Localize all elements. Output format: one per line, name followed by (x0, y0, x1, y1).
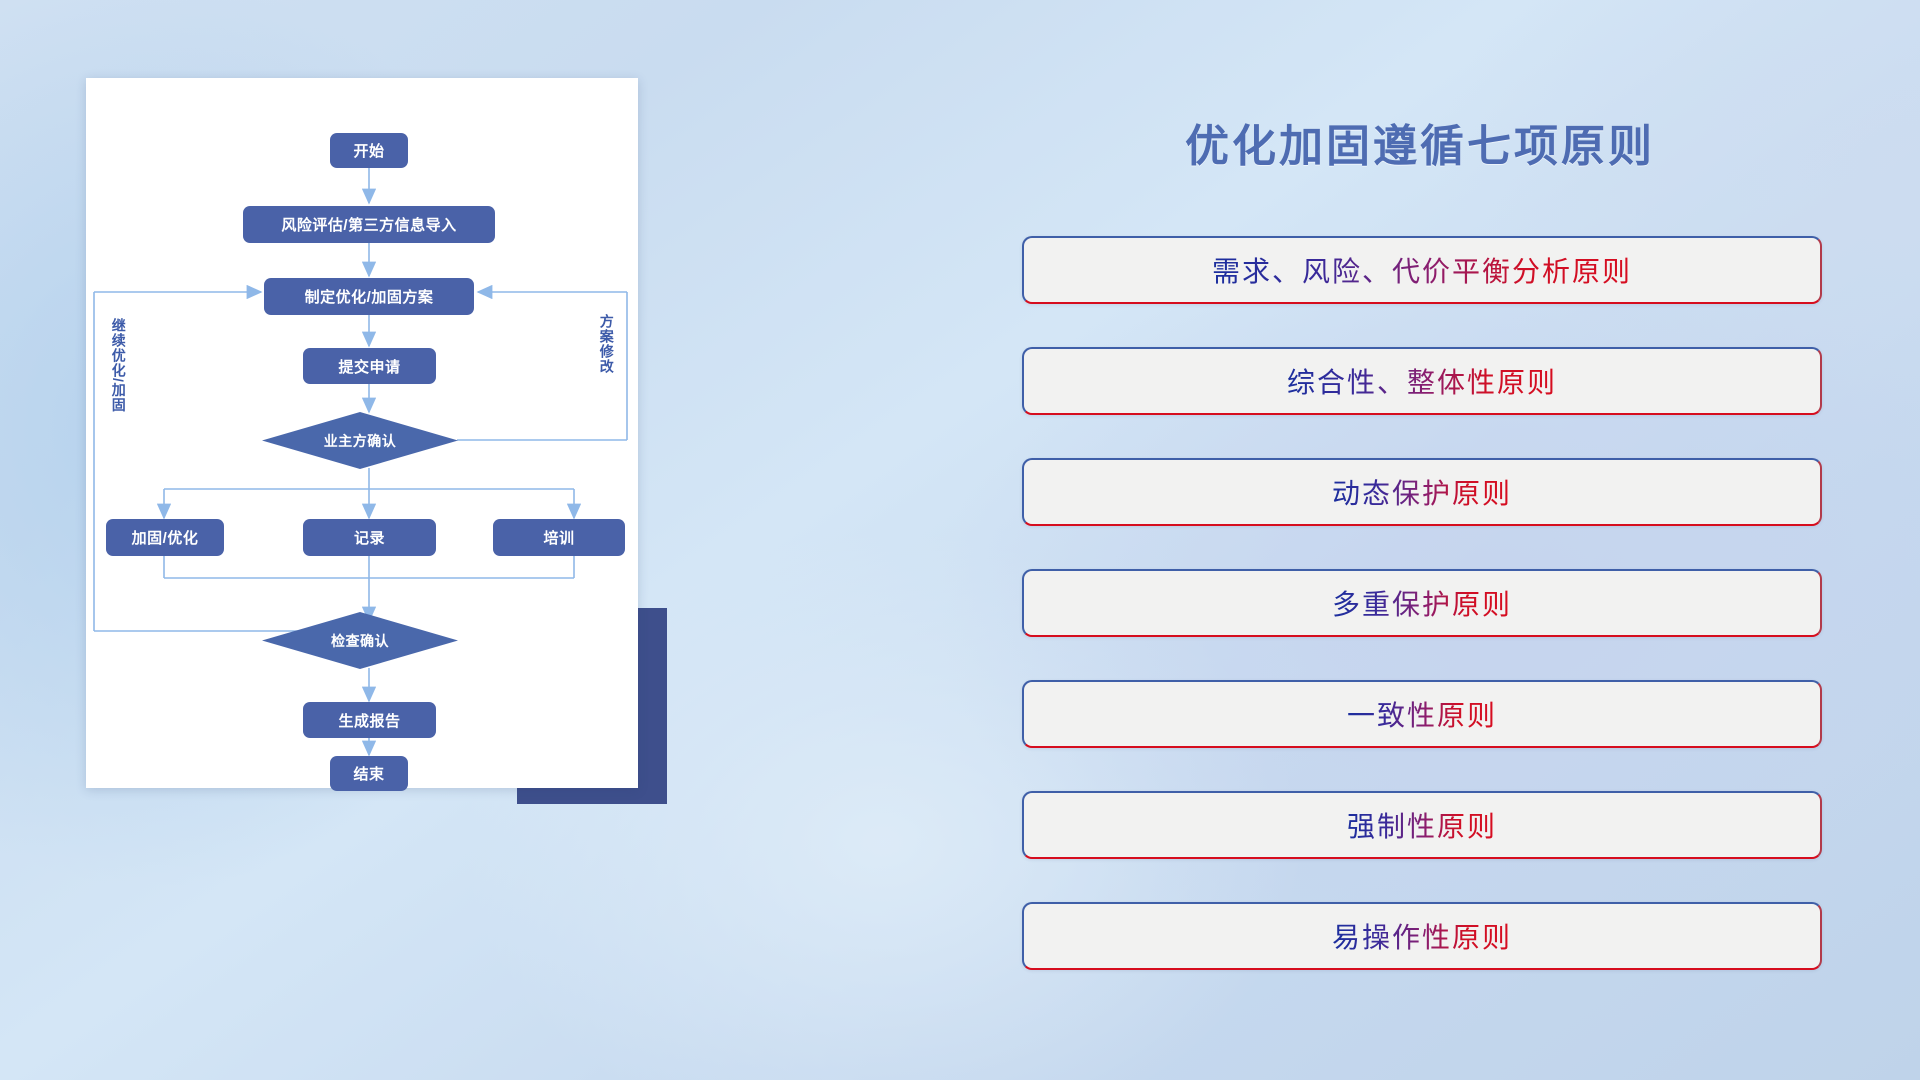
slide-canvas: 开始 风险评估/第三方信息导入 制定优化/加固方案 提交申请 业主方确认 加固/… (0, 0, 1920, 1080)
flow-node-end[interactable]: 结束 (330, 756, 408, 791)
flow-node-label: 生成报告 (338, 710, 400, 731)
flow-edge-label-continue-optimize: 继续优化/加固 (111, 318, 126, 413)
flow-node-reinforce[interactable]: 加固/优化 (106, 519, 224, 556)
flow-node-label: 风险评估/第三方信息导入 (281, 214, 456, 235)
principles-list: 需求、风险、代价平衡分析原则 综合性、整体性原则 动态保护原则 多重保护原则 一… (1022, 236, 1822, 1013)
flow-edge-label-plan-revision: 方案修改 (599, 314, 614, 374)
flow-node-record[interactable]: 记录 (303, 519, 436, 556)
flow-node-label: 加固/优化 (132, 527, 199, 548)
flow-node-label: 提交申请 (338, 356, 400, 377)
flow-node-label: 开始 (353, 140, 384, 161)
principle-card[interactable]: 易操作性原则 (1022, 902, 1822, 970)
flow-node-training[interactable]: 培训 (493, 519, 625, 556)
flow-node-label: 检查确认 (331, 631, 389, 651)
principle-card[interactable]: 强制性原则 (1022, 791, 1822, 859)
principle-card[interactable]: 一致性原则 (1022, 680, 1822, 748)
flow-decision-inspection-confirm[interactable]: 检查确认 (262, 612, 458, 669)
principle-card[interactable]: 动态保护原则 (1022, 458, 1822, 526)
principle-card[interactable]: 综合性、整体性原则 (1022, 347, 1822, 415)
principle-label: 一致性原则 (1347, 694, 1497, 734)
principle-label: 多重保护原则 (1332, 583, 1512, 623)
flow-node-submit[interactable]: 提交申请 (303, 348, 436, 384)
flow-node-label: 培训 (543, 527, 574, 548)
principle-label: 综合性、整体性原则 (1287, 361, 1557, 401)
flow-decision-owner-confirm[interactable]: 业主方确认 (262, 412, 458, 469)
principle-label: 动态保护原则 (1332, 472, 1512, 512)
flow-node-label: 结束 (353, 763, 384, 784)
principle-label: 强制性原则 (1347, 805, 1497, 845)
panel-title: 优化加固遵循七项原则 (1020, 110, 1820, 174)
flow-node-label: 制定优化/加固方案 (305, 286, 434, 307)
flow-node-plan[interactable]: 制定优化/加固方案 (264, 278, 474, 315)
principle-card[interactable]: 需求、风险、代价平衡分析原则 (1022, 236, 1822, 304)
principle-label: 易操作性原则 (1332, 916, 1512, 956)
flowchart-card: 开始 风险评估/第三方信息导入 制定优化/加固方案 提交申请 业主方确认 加固/… (86, 78, 638, 788)
flow-node-generate-report[interactable]: 生成报告 (303, 702, 436, 738)
principles-panel: 优化加固遵循七项原则 需求、风险、代价平衡分析原则 综合性、整体性原则 动态保护… (1020, 0, 1920, 1080)
flow-node-label: 业主方确认 (324, 431, 397, 451)
flow-node-risk-assessment[interactable]: 风险评估/第三方信息导入 (243, 206, 495, 243)
principle-card[interactable]: 多重保护原则 (1022, 569, 1822, 637)
flow-node-label: 记录 (354, 527, 385, 548)
flow-node-start[interactable]: 开始 (330, 133, 408, 168)
principle-label: 需求、风险、代价平衡分析原则 (1212, 250, 1632, 290)
